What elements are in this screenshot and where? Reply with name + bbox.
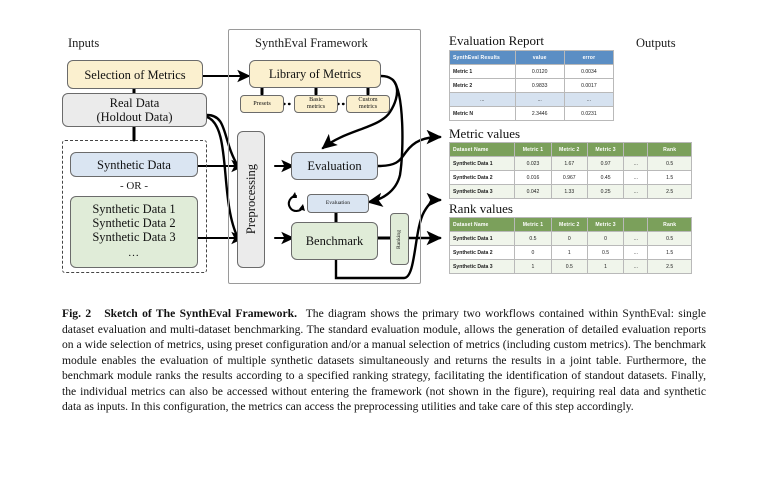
table-row: Synthetic Data 3 0.042 1.33 0.25 ... 2.5 <box>450 185 692 199</box>
cell-metric-2: 1.67 <box>551 157 587 171</box>
node-evaluation-label: Evaluation <box>307 159 361 173</box>
cell-rank: 2.5 <box>648 185 692 199</box>
table-header-row: Dataset Name Metric 1 Metric 2 Metric 3 … <box>450 143 692 157</box>
cell-metric-2: 1.33 <box>551 185 587 199</box>
cell-metric-3: 0.45 <box>587 171 623 185</box>
caption-label: Fig. 2 <box>62 307 91 320</box>
table-row: Synthetic Data 2 0 1 0.5 ... 1.5 <box>450 246 692 260</box>
table-header-row: SynthEval Results value error <box>450 51 614 65</box>
node-evaluation[interactable]: Evaluation <box>291 152 378 180</box>
node-synthetic-data-label: Synthetic Data <box>97 158 171 172</box>
cell-metric-name: Metric 1 <box>450 65 516 79</box>
table-row: Synthetic Data 3 1 0.5 1 ... 2.5 <box>450 260 692 274</box>
cell-rank: 1.5 <box>648 171 692 185</box>
node-benchmark[interactable]: Benchmark <box>291 222 378 260</box>
cell-value: ... <box>515 93 564 107</box>
caption-heading: Sketch of The SynthEval Framework. <box>104 307 297 320</box>
cell-value: 0.0120 <box>515 65 564 79</box>
cell-metric-3: 0 <box>587 232 623 246</box>
cell-value: 0.9833 <box>515 79 564 93</box>
th-metric-2: Metric 2 <box>551 218 587 232</box>
node-synthetic-data-ellipsis: ... <box>128 247 139 259</box>
cell-metric-1: 1 <box>515 260 551 274</box>
th-rank: Rank <box>648 218 692 232</box>
table-row: Metric 1 0.0120 0.0034 <box>450 65 614 79</box>
th-value: value <box>515 51 564 65</box>
cell-dataset-name: Synthetic Data 1 <box>450 157 515 171</box>
table-evaluation-report: SynthEval Results value error Metric 1 0… <box>449 50 614 121</box>
cell-error: 0.0034 <box>564 65 613 79</box>
cell-rank: 0.5 <box>648 157 692 171</box>
table-metric-values: Dataset Name Metric 1 Metric 2 Metric 3 … <box>449 142 692 199</box>
cell-metric-3: 0.25 <box>587 185 623 199</box>
node-library-of-metrics-label: Library of Metrics <box>269 67 361 81</box>
cell-dataset-name: Synthetic Data 3 <box>450 260 515 274</box>
cell-error: ... <box>564 93 613 107</box>
th-blank <box>624 218 648 232</box>
node-custom-metrics-label-2: metrics <box>359 104 377 111</box>
node-benchmark-label: Benchmark <box>306 234 364 248</box>
th-metric-2: Metric 2 <box>551 143 587 157</box>
cell-ellipsis: ... <box>624 171 648 185</box>
or-divider-label: - OR - <box>70 180 198 192</box>
output-title-rank-values: Rank values <box>449 201 513 217</box>
node-selection-of-metrics[interactable]: Selection of Metrics <box>67 60 203 89</box>
node-presets[interactable]: Presets <box>240 95 284 113</box>
cell-metric-1: 0 <box>515 246 551 260</box>
node-preprocessing-label: Preprocessing <box>244 164 258 234</box>
node-synthetic-data-1-label: Synthetic Data 1 <box>92 202 175 216</box>
table-row: Synthetic Data 1 0.023 1.67 0.97 ... 0.5 <box>450 157 692 171</box>
cell-metric-3: 1 <box>587 260 623 274</box>
node-basic-metrics-label-2: metrics <box>307 104 325 111</box>
output-title-metric-values: Metric values <box>449 126 520 142</box>
node-real-data[interactable]: Real Data (Holdout Data) <box>62 93 207 127</box>
node-library-of-metrics[interactable]: Library of Metrics <box>249 60 381 88</box>
table-row-ellipsis: ... ... ... <box>450 93 614 107</box>
node-synthetic-data-3-label: Synthetic Data 3 <box>92 230 175 244</box>
node-evaluation-inner[interactable]: Evaluation <box>307 194 369 213</box>
cell-error: 0.0017 <box>564 79 613 93</box>
cell-rank: 2.5 <box>648 260 692 274</box>
cell-value: 2.3446 <box>515 107 564 121</box>
th-metric-3: Metric 3 <box>587 218 623 232</box>
column-label-inputs: Inputs <box>68 36 99 51</box>
cell-rank: 0.5 <box>648 232 692 246</box>
cell-ellipsis: ... <box>624 185 648 199</box>
th-blank <box>624 143 648 157</box>
node-synthetic-data[interactable]: Synthetic Data <box>70 152 198 177</box>
th-metric-1: Metric 1 <box>515 143 551 157</box>
cell-ellipsis: ... <box>624 246 648 260</box>
cell-metric-2: 0.967 <box>551 171 587 185</box>
node-selection-of-metrics-label: Selection of Metrics <box>84 68 185 82</box>
figure-caption: Fig. 2 Sketch of The SynthEval Framework… <box>62 306 706 415</box>
cell-dataset-name: Synthetic Data 2 <box>450 246 515 260</box>
cell-metric-3: 0.5 <box>587 246 623 260</box>
cell-dataset-name: Synthetic Data 3 <box>450 185 515 199</box>
cell-ellipsis: ... <box>624 157 648 171</box>
cell-dataset-name: Synthetic Data 2 <box>450 171 515 185</box>
node-preprocessing[interactable]: Preprocessing <box>237 131 265 268</box>
th-syntheval-results: SynthEval Results <box>450 51 516 65</box>
table-row: Synthetic Data 1 0.5 0 0 ... 0.5 <box>450 232 692 246</box>
cell-metric-2: 0 <box>551 232 587 246</box>
node-real-data-label-2: (Holdout Data) <box>96 110 172 124</box>
cell-dataset-name: Synthetic Data 1 <box>450 232 515 246</box>
cell-metric-1: 0.016 <box>515 171 551 185</box>
table-row: Metric 2 0.9833 0.0017 <box>450 79 614 93</box>
figure-diagram: Inputs SynthEval Framework Outputs Selec… <box>0 0 768 300</box>
cell-metric-name: ... <box>450 93 516 107</box>
th-dataset-name: Dataset Name <box>450 143 515 157</box>
table-header-row: Dataset Name Metric 1 Metric 2 Metric 3 … <box>450 218 692 232</box>
cell-metric-1: 0.042 <box>515 185 551 199</box>
node-evaluation-inner-label: Evaluation <box>326 200 350 206</box>
node-presets-label: Presets <box>253 101 271 108</box>
th-metric-1: Metric 1 <box>515 218 551 232</box>
node-synthetic-data-list[interactable]: Synthetic Data 1 Synthetic Data 2 Synthe… <box>70 196 198 268</box>
output-title-evaluation-report: Evaluation Report <box>449 33 544 49</box>
cell-metric-1: 0.5 <box>515 232 551 246</box>
cell-metric-1: 0.023 <box>515 157 551 171</box>
caption-body: The diagram shows the primary two workfl… <box>62 307 706 413</box>
column-label-outputs: Outputs <box>636 36 676 51</box>
cell-ellipsis: ... <box>624 260 648 274</box>
node-custom-metrics[interactable]: Custom metrics <box>346 95 390 113</box>
cell-error: 0.0231 <box>564 107 613 121</box>
node-basic-metrics[interactable]: Basic metrics <box>294 95 338 113</box>
cell-metric-name: Metric 2 <box>450 79 516 93</box>
cell-ellipsis: ... <box>624 232 648 246</box>
cell-metric-3: 0.97 <box>587 157 623 171</box>
th-rank: Rank <box>648 143 692 157</box>
cell-metric-2: 0.5 <box>551 260 587 274</box>
table-row: Synthetic Data 2 0.016 0.967 0.45 ... 1.… <box>450 171 692 185</box>
node-synthetic-data-2-label: Synthetic Data 2 <box>92 216 175 230</box>
table-row: Metric N 2.3446 0.0231 <box>450 107 614 121</box>
node-real-data-label-1: Real Data <box>110 96 160 110</box>
node-ranking[interactable]: Ranking <box>390 213 409 265</box>
cell-metric-2: 1 <box>551 246 587 260</box>
th-metric-3: Metric 3 <box>587 143 623 157</box>
th-error: error <box>564 51 613 65</box>
th-dataset-name: Dataset Name <box>450 218 515 232</box>
table-rank-values: Dataset Name Metric 1 Metric 2 Metric 3 … <box>449 217 692 274</box>
cell-rank: 1.5 <box>648 246 692 260</box>
node-ranking-label: Ranking <box>396 230 402 249</box>
cell-metric-name: Metric N <box>450 107 516 121</box>
